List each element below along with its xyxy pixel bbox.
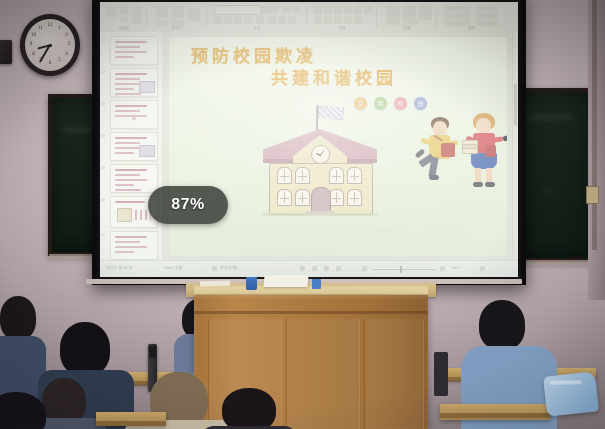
- thumbnail-text-line: [115, 46, 140, 48]
- ribbon-button[interactable]: [334, 6, 342, 14]
- view-reading-icon[interactable]: [324, 266, 329, 271]
- thumbnail-text-line: [115, 251, 134, 253]
- flag-icon: [318, 106, 344, 120]
- view-slideshow-icon[interactable]: [336, 266, 341, 271]
- ribbon-button[interactable]: [156, 6, 168, 18]
- clock-numeral: 2: [61, 31, 71, 41]
- school-window: [329, 167, 344, 184]
- mic-grill: [149, 346, 156, 358]
- thumbnail-image-box: [139, 81, 155, 93]
- light-switch[interactable]: [586, 186, 599, 204]
- ribbon-button[interactable]: [402, 6, 416, 20]
- thumbnail-text-line: [115, 189, 141, 191]
- student-figure-left: [419, 117, 463, 187]
- ribbon-button[interactable]: [282, 6, 290, 13]
- current-slide[interactable]: 预防校园欺凌 共建和谐校园 文明校园: [168, 36, 508, 257]
- thumbnail-number: 23: [101, 102, 105, 106]
- ribbon-button[interactable]: [172, 20, 184, 26]
- blue-marker: [312, 279, 321, 289]
- student-desk: [440, 404, 550, 420]
- projection-screen: 剪贴板 幻灯片 字体 段落 绘图 编辑: [92, 0, 526, 285]
- thumbnail-title-line: [115, 201, 145, 203]
- blue-jacket-on-chair: [543, 371, 599, 416]
- ribbon-button[interactable]: [268, 16, 276, 24]
- clock-center-pin: [49, 44, 52, 47]
- school-window: [277, 167, 292, 184]
- ribbon-button[interactable]: [354, 16, 362, 24]
- powerpoint-window: 剪贴板 幻灯片 字体 段落 绘图 编辑: [100, 2, 518, 277]
- ribbon-button[interactable]: [224, 16, 232, 24]
- thumbnail-number: 22: [101, 70, 105, 74]
- thumbnail-text-line: [115, 142, 140, 144]
- thumbnail-text-line: [115, 246, 147, 248]
- thumbnail-diagram: [119, 114, 149, 123]
- clock-numeral: 11: [36, 24, 46, 34]
- slide-badge-2: 校: [394, 97, 407, 110]
- thumbnail-text-line: [115, 88, 134, 90]
- ribbon-button[interactable]: [120, 6, 128, 14]
- student-figure-middle: [465, 113, 505, 189]
- thumbnail-text-line: [115, 152, 134, 154]
- thumbnail-text-line: [115, 56, 134, 58]
- slide-thumbnail-panel[interactable]: 21222324252627: [100, 32, 163, 261]
- slide-title-line1: 预防校园欺凌: [191, 47, 491, 67]
- ribbon-button[interactable]: [354, 6, 362, 14]
- status-theme: Office 主题: [164, 266, 183, 271]
- thumbnail-text-line: [115, 78, 140, 80]
- school-clock-icon: [311, 145, 330, 164]
- ribbon-button[interactable]: [476, 13, 498, 19]
- ribbon-button[interactable]: [156, 20, 168, 26]
- slide-thumbnail[interactable]: [110, 231, 158, 260]
- zoom-out-icon[interactable]: [362, 266, 367, 271]
- clock-numeral: 8: [29, 50, 39, 60]
- status-zoom-level: 66%: [452, 266, 460, 270]
- podium-top-inner: [194, 286, 428, 294]
- blue-cup: [246, 277, 257, 290]
- school-window: [295, 167, 310, 184]
- ribbon-button[interactable]: [476, 6, 498, 12]
- ribbon-button[interactable]: [288, 16, 296, 24]
- school-window: [347, 167, 362, 184]
- ribbon-button[interactable]: [278, 16, 286, 24]
- font-name-field[interactable]: [214, 5, 262, 15]
- clock-numeral: 6: [45, 59, 55, 69]
- progress-badge-value: 87%: [171, 196, 205, 214]
- ribbon-group-label: 绘图: [382, 25, 432, 30]
- slide-thumbnail[interactable]: [110, 164, 158, 193]
- school-window: [347, 189, 362, 206]
- zoom-slider-track[interactable]: [372, 269, 436, 270]
- ribbon-button[interactable]: [404, 20, 418, 25]
- slide-title: 预防校园欺凌 共建和谐校园: [191, 47, 491, 89]
- wall-post: [592, 0, 597, 250]
- ribbon-separator: [146, 6, 147, 27]
- powerpoint-status-bar[interactable]: 幻灯片 第 26 张 Office 主题 中文(中国) 66%: [100, 260, 518, 277]
- slide-title-line2: 共建和谐校园: [271, 69, 491, 89]
- thumbnail-number: 27: [101, 233, 105, 237]
- ribbon-separator: [206, 6, 207, 27]
- school-window: [329, 189, 344, 206]
- ribbon-group-label: 剪贴板: [104, 25, 144, 30]
- bullying-scene-illustration: [419, 107, 508, 199]
- thumbnail-artwork: [117, 208, 132, 222]
- thumbnail-text-line: [115, 241, 140, 243]
- ribbon-button[interactable]: [324, 6, 332, 14]
- zoom-slider-knob[interactable]: [400, 266, 402, 273]
- status-slide-indicator: 幻灯片 第 26 张: [106, 266, 132, 271]
- slide-thumbnail[interactable]: [110, 100, 158, 129]
- ribbon-button[interactable]: [444, 20, 470, 26]
- thumbnail-text-line: [115, 236, 147, 238]
- ribbon-button[interactable]: [256, 16, 264, 24]
- ribbon-button[interactable]: [364, 6, 372, 14]
- ribbon-button[interactable]: [292, 6, 300, 13]
- chalk-rail: [516, 260, 594, 265]
- thumbnail-text-line: [115, 93, 141, 95]
- ribbon-button[interactable]: [386, 20, 400, 25]
- ribbon-button[interactable]: [262, 6, 278, 13]
- podium-panel: [364, 319, 424, 429]
- thumbnail-number: 26: [101, 198, 105, 202]
- ribbon-button[interactable]: [188, 8, 200, 22]
- student-desk: [96, 412, 166, 426]
- zoom-in-icon[interactable]: [440, 266, 445, 271]
- ribbon-button[interactable]: [234, 16, 242, 24]
- ribbon-button[interactable]: [444, 6, 470, 12]
- ribbon-button[interactable]: [386, 6, 400, 20]
- school-ground: [261, 213, 379, 216]
- slide-scrollbar[interactable]: [512, 32, 518, 261]
- thumbnail-text-line: [115, 169, 147, 171]
- podium-panel: [286, 319, 360, 429]
- status-language: 中文(中国): [220, 266, 238, 271]
- satchel-icon: [485, 145, 496, 157]
- ribbon-button[interactable]: [106, 7, 116, 17]
- chair-back: [434, 352, 448, 396]
- ribbon-button[interactable]: [334, 16, 342, 24]
- ribbon-separator: [436, 6, 437, 27]
- thumbnail-text-line: [115, 41, 147, 43]
- ribbon-group-label: 字体: [212, 25, 302, 30]
- powerpoint-ribbon[interactable]: 剪贴板 幻灯片 字体 段落 绘图 编辑: [100, 2, 518, 33]
- podium-papers: [263, 275, 308, 287]
- cloth-fold: [550, 380, 582, 385]
- progress-badge: 87%: [148, 186, 228, 224]
- ribbon-button[interactable]: [314, 16, 322, 24]
- thumbnail-text-line: [115, 174, 140, 176]
- backpack-icon: [441, 143, 455, 157]
- ribbon-button[interactable]: [444, 13, 470, 19]
- language-icon[interactable]: [212, 266, 217, 271]
- view-normal-icon[interactable]: [300, 266, 305, 271]
- thumbnail-image-box: [139, 145, 155, 157]
- podium-paper: [200, 280, 230, 286]
- slide-edit-area[interactable]: 预防校园欺凌 共建和谐校园 文明校园: [162, 32, 518, 261]
- thumbnail-text-line: [115, 179, 147, 181]
- slide-thumbnail[interactable]: [110, 36, 158, 65]
- ribbon-button[interactable]: [344, 16, 352, 24]
- ribbon-button[interactable]: [418, 6, 432, 20]
- slide-thumbnail[interactable]: [110, 68, 158, 97]
- ribbon-button[interactable]: [120, 16, 128, 22]
- clock-numeral: 3: [64, 40, 74, 50]
- thumbnail-text-line: [115, 105, 147, 107]
- chalk-smudge: [543, 188, 553, 193]
- clock-numeral: 9: [26, 40, 36, 50]
- chalk-smudge: [62, 126, 92, 134]
- chalkboard-right: [515, 88, 595, 262]
- ribbon-button[interactable]: [344, 6, 352, 14]
- thumbnail-number: 25: [101, 166, 105, 170]
- ribbon-button[interactable]: [172, 6, 184, 18]
- ribbon-group-label: 段落: [312, 25, 372, 30]
- chalk-smudge: [527, 114, 573, 121]
- thumbnail-text-line: [115, 110, 140, 112]
- clock-numeral: 5: [55, 56, 65, 66]
- flagpole: [316, 105, 318, 131]
- view-sorter-icon[interactable]: [312, 266, 317, 271]
- school-building-illustration: [261, 105, 379, 217]
- ribbon-button[interactable]: [132, 6, 142, 24]
- clock-numeral: 12: [45, 21, 55, 31]
- ribbon-button[interactable]: [214, 16, 222, 24]
- scrollbar-thumb[interactable]: [514, 84, 517, 126]
- fit-to-window-icon[interactable]: [480, 266, 485, 271]
- thumbnail-text-line: [115, 184, 134, 186]
- projection-surface: 剪贴板 幻灯片 字体 段落 绘图 编辑: [100, 2, 518, 277]
- ribbon-separator: [376, 6, 377, 27]
- thumbnail-text-line: [115, 73, 147, 75]
- school-window: [295, 189, 310, 206]
- ribbon-button[interactable]: [314, 6, 322, 14]
- wall-speaker-box: [0, 40, 12, 64]
- school-window: [277, 189, 292, 206]
- thumbnail-text-line: [115, 51, 147, 53]
- wall-clock: 121234567891011: [20, 14, 80, 76]
- classroom-projection-scene: 121234567891011: [0, 0, 605, 429]
- ribbon-button[interactable]: [244, 16, 252, 24]
- ribbon-separator: [306, 6, 307, 27]
- thumbnail-text-line: [115, 137, 147, 139]
- ribbon-button[interactable]: [476, 20, 498, 26]
- student-figure-right: [505, 111, 508, 189]
- podium-trim-band: [194, 311, 428, 314]
- ribbon-button[interactable]: [324, 16, 332, 24]
- slide-thumbnail[interactable]: [110, 132, 158, 161]
- thumbnail-number: 21: [101, 38, 105, 42]
- thumbnail-number: 24: [101, 134, 105, 138]
